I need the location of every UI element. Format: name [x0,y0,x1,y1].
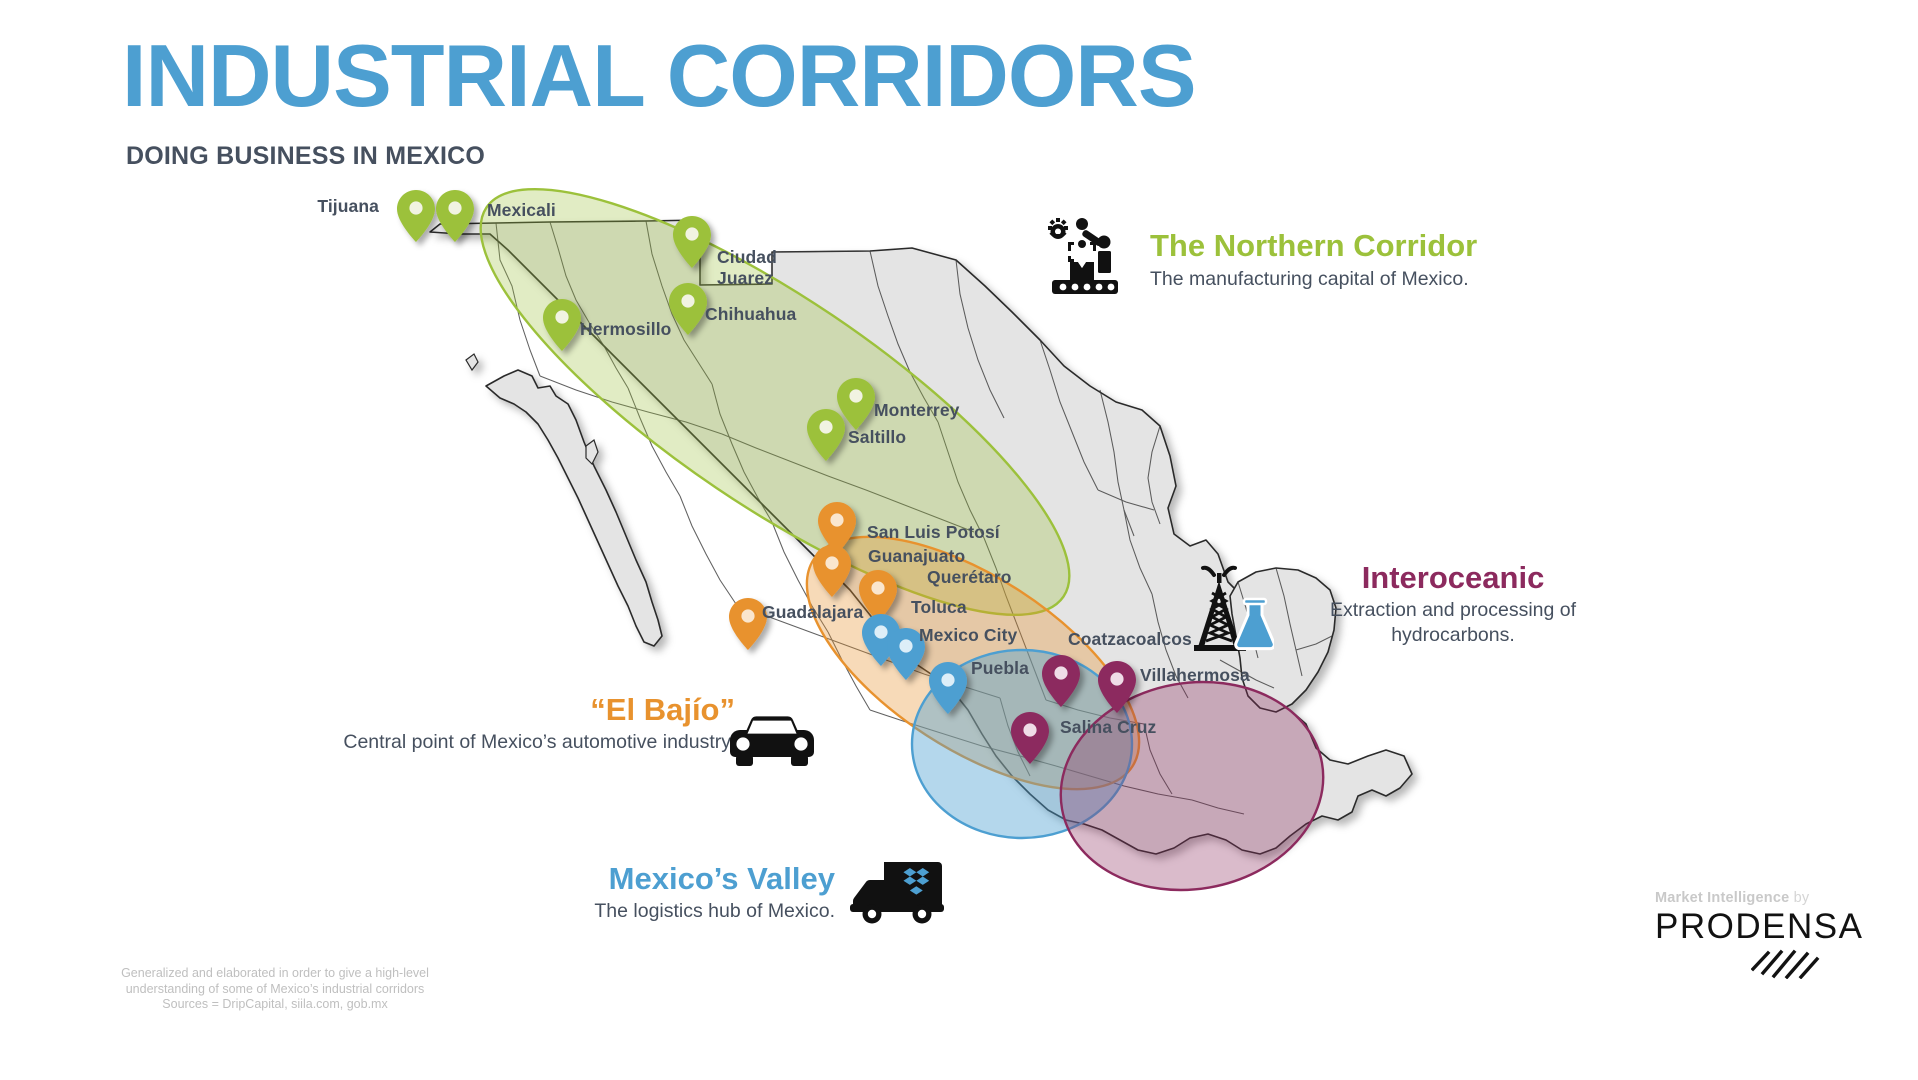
city-label-mexicali: Mexicali [487,200,556,220]
brand-tagline-strong: Market Intelligence [1655,890,1789,906]
legend-interoceanic-title: Interoceanic [1303,560,1603,596]
delivery-truck-icon [850,862,944,929]
city-label-monterrey: Monterrey [874,400,960,420]
footnote-line-1: Generalized and elaborated in order to g… [110,966,440,982]
footnote-line-3: Sources = DripCapital, siila.com, gob.mx [110,997,440,1013]
city-label-coatzacoalcos: Coatzacoalcos [1068,629,1192,649]
city-label-chihuahua: Chihuahua [705,304,796,324]
page-subtitle: DOING BUSINESS IN MEXICO [126,142,485,170]
city-label-ciudad-juarez: Ciudad Juarez [717,247,777,289]
brand-tagline-light: by [1794,890,1810,906]
city-label-villahermosa: Villahermosa [1140,665,1250,685]
legend-valley-description: The logistics hub of Mexico. [540,899,835,924]
legend-northern-corridor: The Northern Corridor The manufacturing … [1150,228,1477,292]
legend-el-bajio-title: “El Bajío” [330,692,735,728]
city-label-salina-cruz: Salina Cruz [1060,717,1156,737]
legend-northern-description: The manufacturing capital of Mexico. [1150,267,1477,292]
car-icon [726,712,818,773]
brand-tagline: Market Intelligence by [1655,890,1855,906]
city-label-mexico-city: Mexico City [919,625,1017,645]
city-label-puebla: Puebla [971,658,1029,678]
brand-name: PRODENSA [1655,907,1855,947]
city-label-guadalajara: Guadalajara [762,602,863,622]
footnote: Generalized and elaborated in order to g… [110,966,440,1013]
city-label-san-luis-potosi: San Luis Potosí [867,522,1000,542]
robot-arm-factory-icon [1048,218,1134,301]
prodensa-brand: Market Intelligence by PRODENSA [1655,890,1855,984]
page-title: INDUSTRIAL CORRIDORS [122,30,1196,122]
map-pin-tijuana[interactable] [397,190,435,242]
footnote-line-2: understanding of some of Mexico’s indust… [110,982,440,998]
infographic-canvas: INDUSTRIAL CORRIDORS DOING BUSINESS IN M… [0,0,1918,1080]
city-label-toluca: Toluca [911,597,967,617]
city-label-ciudad-juarez-line1: Ciudad [717,247,777,268]
city-label-ciudad-juarez-line2: Juarez [717,268,777,289]
legend-interoceanic-description: Extraction and processing of hydrocarbon… [1303,598,1603,648]
city-label-guanajuato: Guanajuato [868,546,965,566]
city-label-hermosillo: Hermosillo [580,319,671,339]
legend-interoceanic: Interoceanic Extraction and processing o… [1303,560,1603,648]
legend-el-bajio-description: Central point of Mexico’s automotive ind… [330,730,735,755]
city-label-tijuana: Tijuana [317,196,379,216]
legend-el-bajio: “El Bajío” Central point of Mexico’s aut… [330,692,735,755]
prodensa-slashes-icon [1751,949,1855,984]
city-label-queretaro: Querétaro [927,567,1012,587]
city-label-saltillo: Saltillo [848,427,906,447]
oil-rig-flask-icon [1190,565,1274,660]
legend-valley-title: Mexico’s Valley [540,861,835,897]
legend-northern-title: The Northern Corridor [1150,228,1477,264]
legend-mexicos-valley: Mexico’s Valley The logistics hub of Mex… [540,861,835,924]
